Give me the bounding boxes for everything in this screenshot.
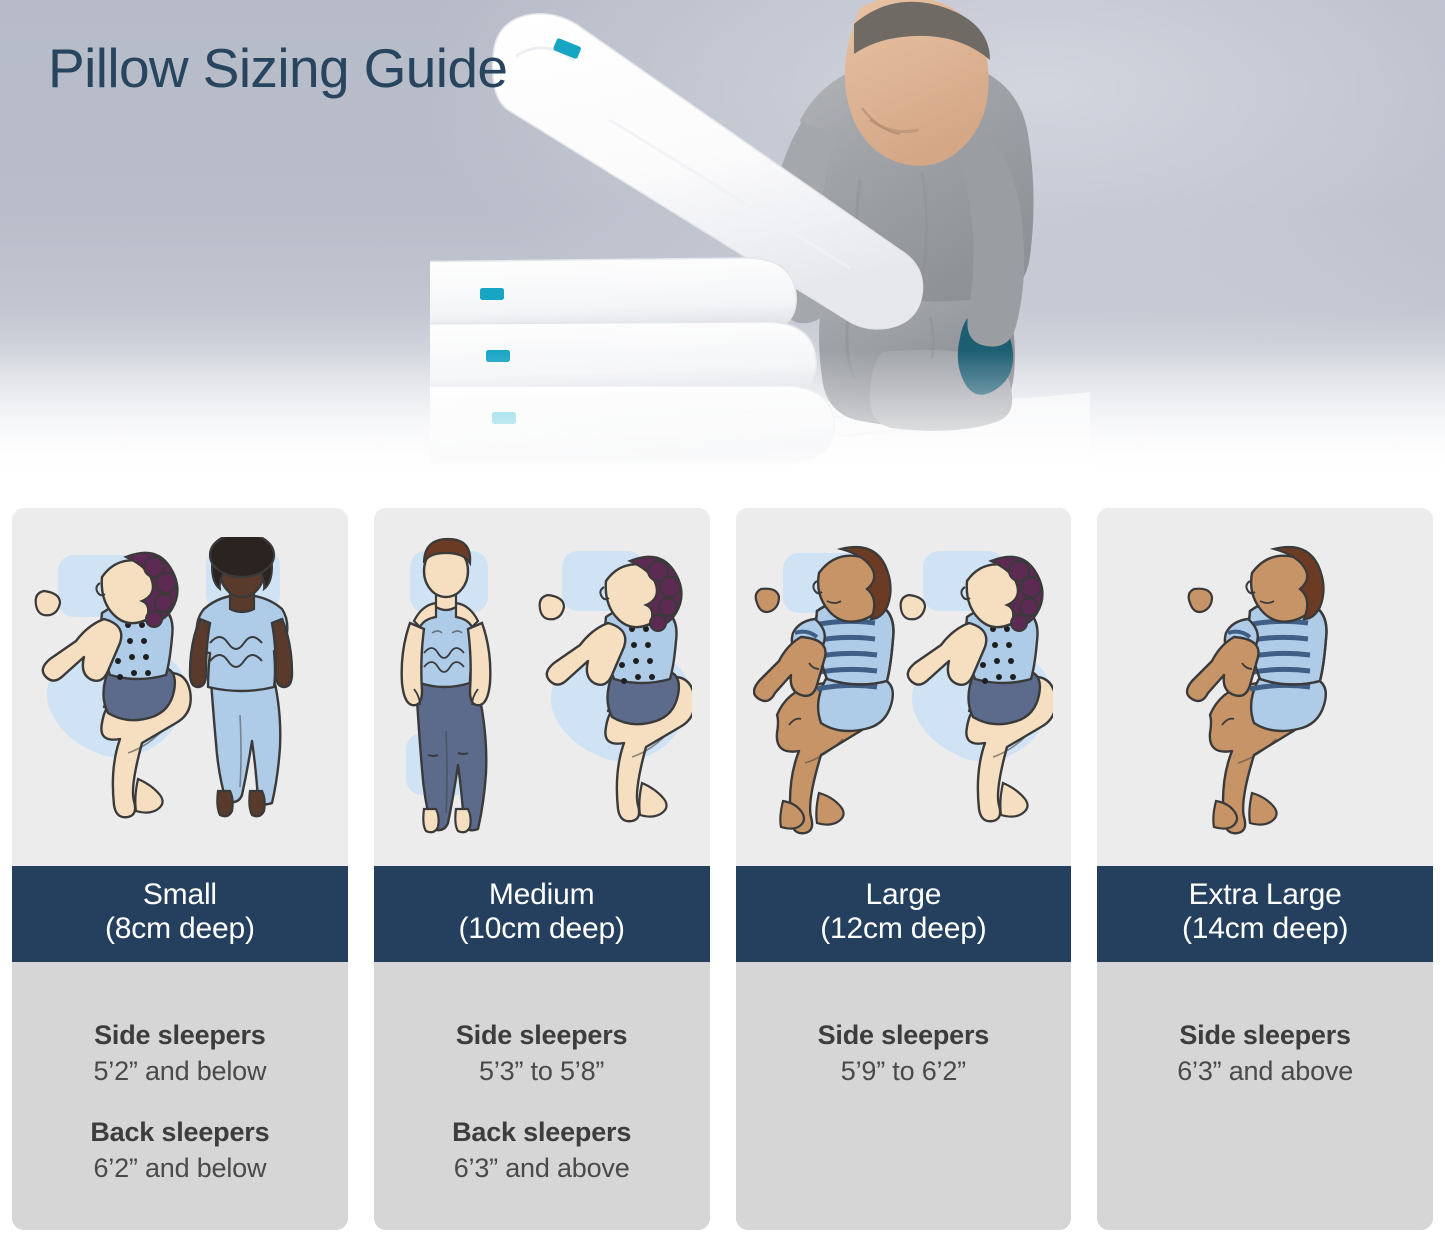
pillow-sizing-guide-page: Pillow Sizing Guide xyxy=(0,0,1445,1248)
size-card-small[interactable]: Small (8cm deep) Side sleepers 5’2” and … xyxy=(12,508,348,1230)
card-size-name: Medium xyxy=(380,878,704,912)
card-band-medium: Medium (10cm deep) xyxy=(374,866,710,962)
card-body-medium: Side sleepers 5’3” to 5’8” Back sleepers… xyxy=(374,962,710,1230)
card-body-small: Side sleepers 5’2” and below Back sleepe… xyxy=(12,962,348,1230)
sleeper-height-range: 5’2” and below xyxy=(12,1053,348,1089)
size-card-extra-large[interactable]: Extra Large (14cm deep) Side sleepers 6’… xyxy=(1097,508,1433,1230)
card-body-extra-large: Side sleepers 6’3” and above xyxy=(1097,962,1433,1230)
card-size-depth: (14cm deep) xyxy=(1103,912,1427,946)
sleeper-type-label: Side sleepers xyxy=(1097,1018,1433,1053)
recommendation-group: Back sleepers 6’2” and below xyxy=(12,1115,348,1186)
card-body-large: Side sleepers 5’9” to 6’2” xyxy=(736,962,1072,1230)
recommendation-group: Side sleepers 5’9” to 6’2” xyxy=(736,1018,1072,1089)
teal-tag-icon xyxy=(486,350,510,362)
figure-side-sleeper-woman xyxy=(901,551,1053,821)
card-band-small: Small (8cm deep) xyxy=(12,866,348,962)
card-size-name: Small xyxy=(18,878,342,912)
hero-banner: Pillow Sizing Guide xyxy=(0,0,1445,500)
card-size-depth: (12cm deep) xyxy=(742,912,1066,946)
card-size-name: Large xyxy=(742,878,1066,912)
illustration-extra-large xyxy=(1097,508,1433,866)
size-card-medium[interactable]: Medium (10cm deep) Side sleepers 5’3” to… xyxy=(374,508,710,1230)
teal-tag-icon xyxy=(492,412,516,424)
figure-side-sleeper-man xyxy=(754,547,894,833)
size-cards-row: Small (8cm deep) Side sleepers 5’2” and … xyxy=(0,508,1445,1230)
figure-back-sleeper-person xyxy=(190,537,292,816)
recommendation-group: Side sleepers 5’3” to 5’8” xyxy=(374,1018,710,1089)
illustration-large xyxy=(736,508,1072,866)
card-band-large: Large (12cm deep) xyxy=(736,866,1072,962)
card-size-depth: (8cm deep) xyxy=(18,912,342,946)
sleeper-height-range: 5’3” to 5’8” xyxy=(374,1053,710,1089)
sleeper-type-label: Side sleepers xyxy=(374,1018,710,1053)
illustration-small xyxy=(12,508,348,866)
figure-side-sleeper-man xyxy=(1187,547,1327,833)
illustration-medium xyxy=(374,508,710,866)
card-size-name: Extra Large xyxy=(1103,878,1427,912)
recommendation-group: Side sleepers 5’2” and below xyxy=(12,1018,348,1089)
sleeper-type-label: Side sleepers xyxy=(736,1018,1072,1053)
teal-tag-icon xyxy=(480,288,504,300)
card-band-extra-large: Extra Large (14cm deep) xyxy=(1097,866,1433,962)
pillow-stack xyxy=(430,258,834,464)
recommendation-group: Back sleepers 6’3” and above xyxy=(374,1115,710,1186)
figure-side-sleeper-woman xyxy=(36,553,191,817)
figure-back-sleeper-man xyxy=(401,539,490,832)
sleeper-type-label: Side sleepers xyxy=(12,1018,348,1053)
size-card-large[interactable]: Large (12cm deep) Side sleepers 5’9” to … xyxy=(736,508,1072,1230)
sleeper-type-label: Back sleepers xyxy=(12,1115,348,1150)
card-size-depth: (10cm deep) xyxy=(380,912,704,946)
sleeper-type-label: Back sleepers xyxy=(374,1115,710,1150)
sleeper-height-range: 6’2” and below xyxy=(12,1150,348,1186)
sleeper-height-range: 6’3” and above xyxy=(374,1150,710,1186)
sleeper-height-range: 5’9” to 6’2” xyxy=(736,1053,1072,1089)
recommendation-group: Side sleepers 6’3” and above xyxy=(1097,1018,1433,1089)
page-title: Pillow Sizing Guide xyxy=(48,38,507,99)
figure-side-sleeper-woman xyxy=(539,551,691,821)
man-head xyxy=(845,0,990,166)
hero-photo-man-with-pillows xyxy=(430,0,1090,500)
pillow-stack-item-3 xyxy=(430,386,834,464)
sleeper-height-range: 6’3” and above xyxy=(1097,1053,1433,1089)
